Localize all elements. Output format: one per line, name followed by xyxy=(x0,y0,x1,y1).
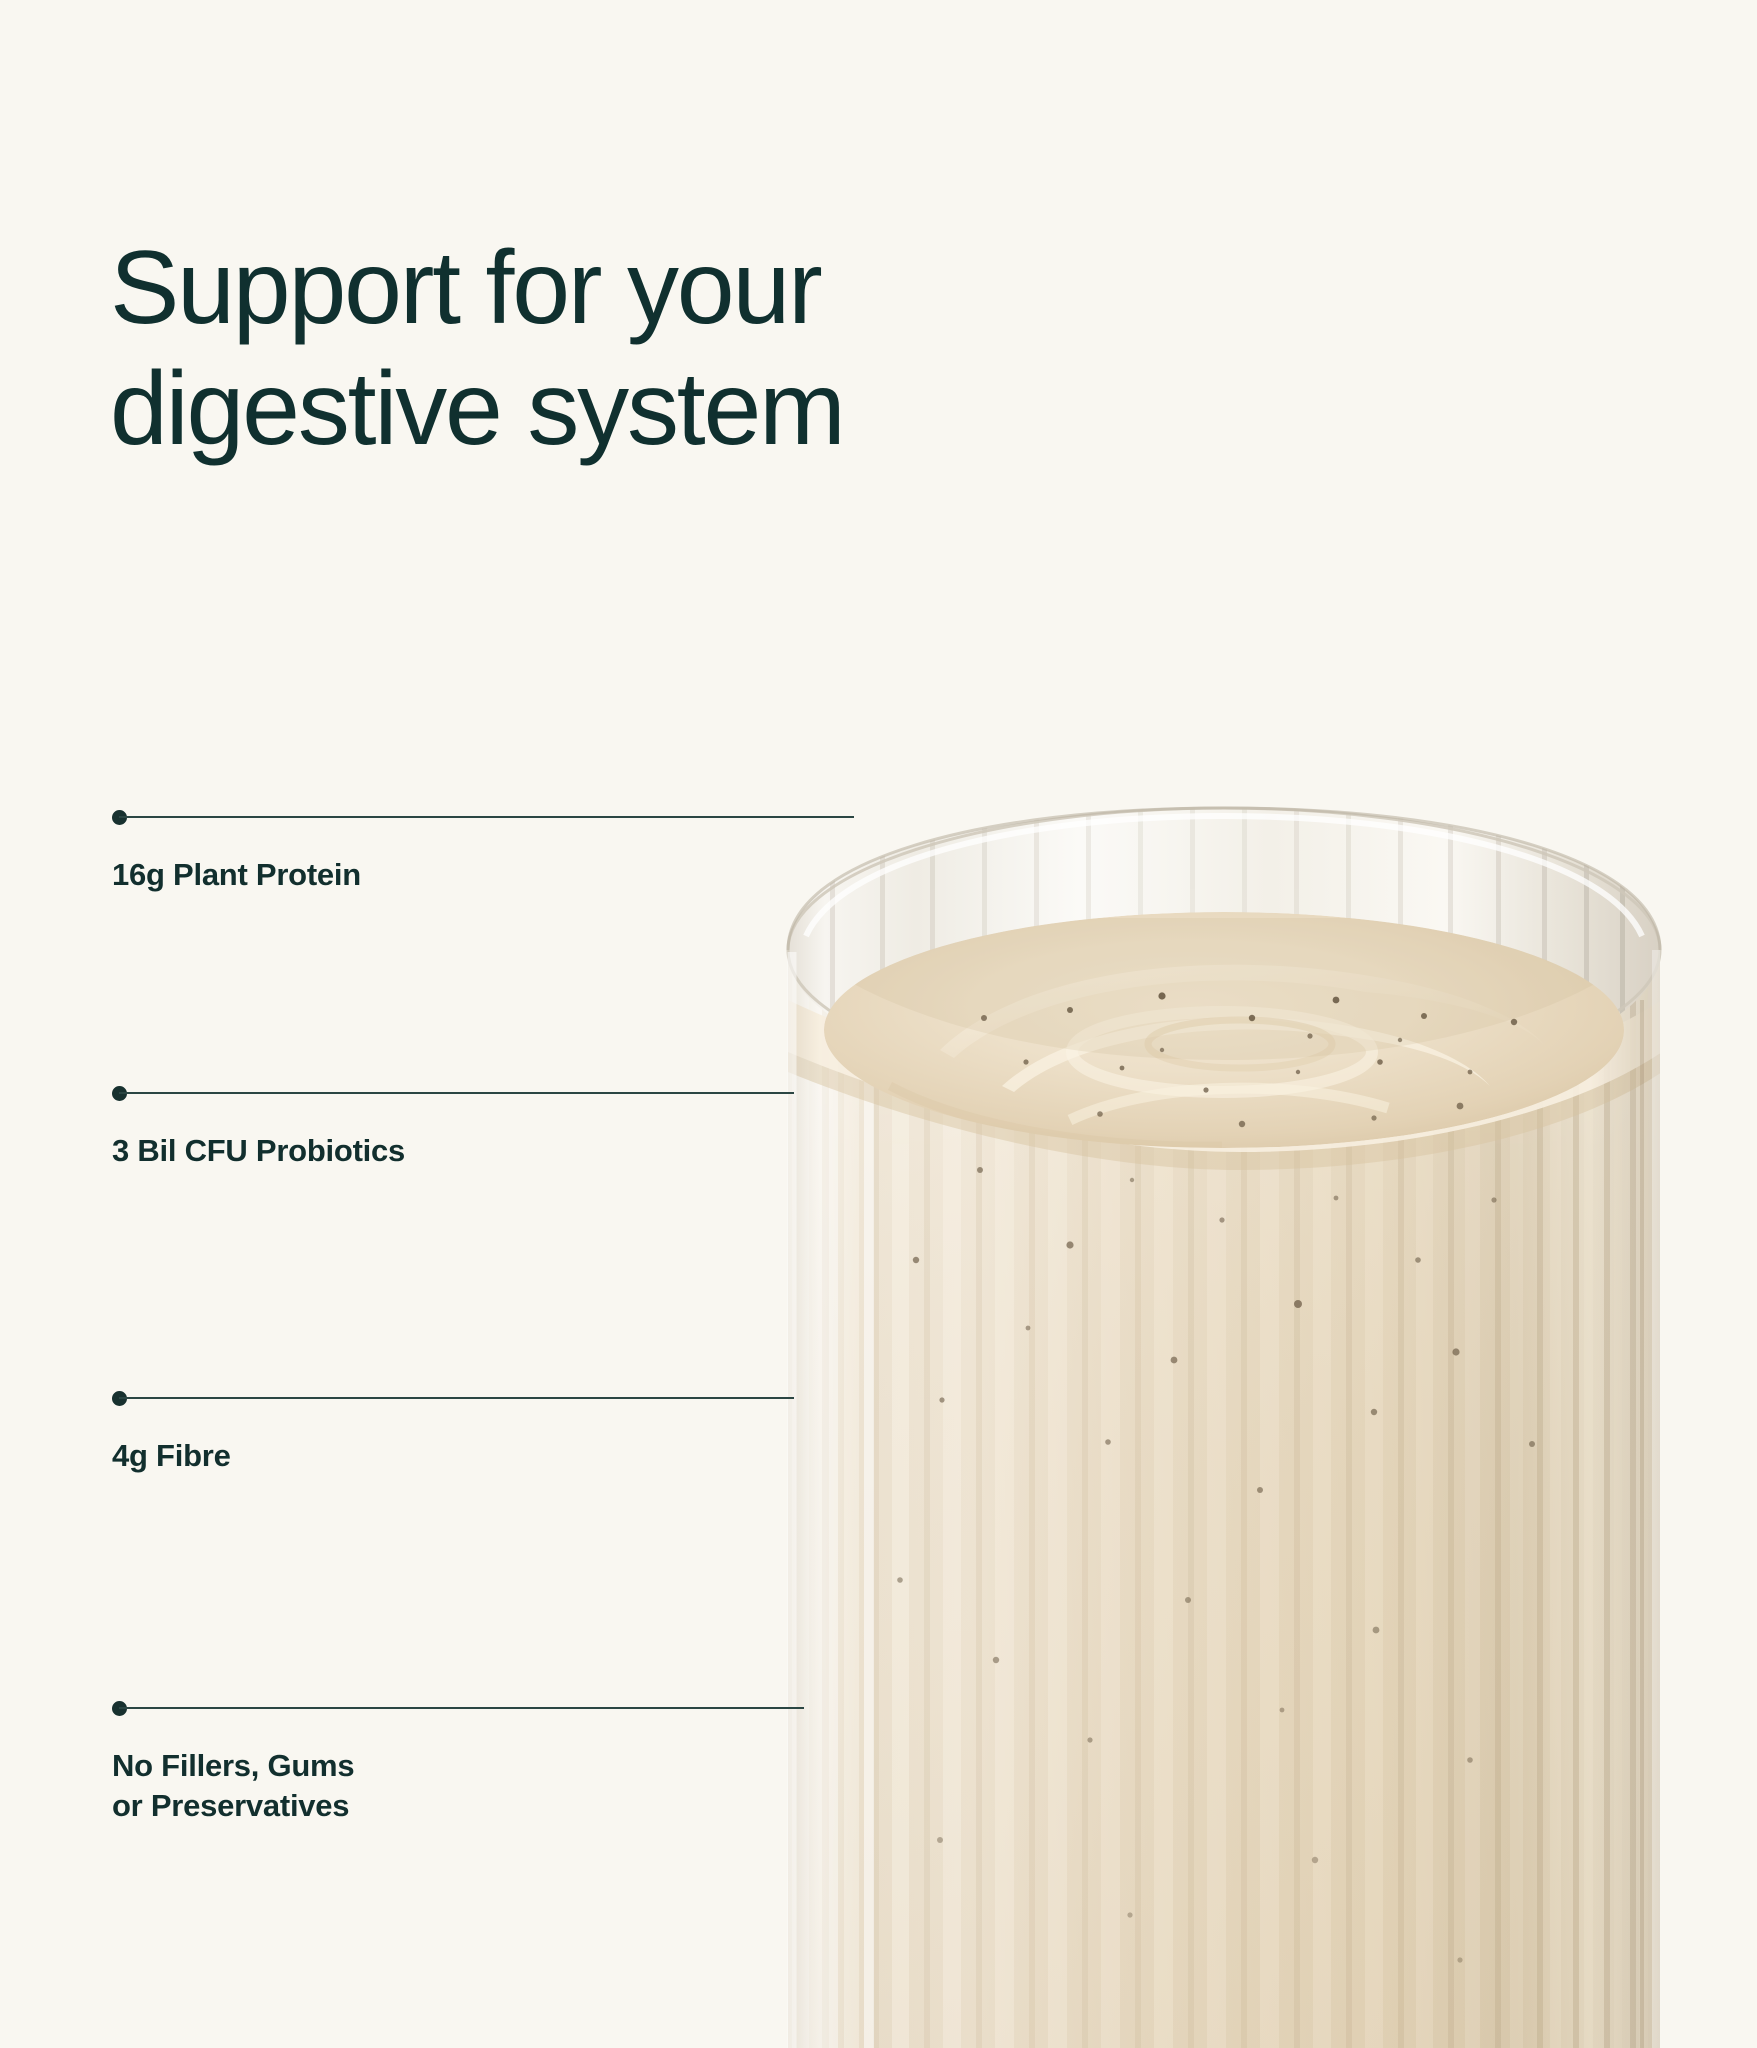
callout-item[interactable]: No Fillers, Gums or Preservatives xyxy=(112,1700,354,1825)
callout-rule xyxy=(112,1700,354,1716)
callout-label: No Fillers, Gums or Preservatives xyxy=(112,1746,354,1825)
product-image xyxy=(770,700,1680,2048)
page-title: Support for your digestive system xyxy=(110,228,1210,469)
callout-rule xyxy=(112,1085,405,1101)
leader-line xyxy=(119,1707,804,1709)
page-canvas: Support for your digestive system xyxy=(0,0,1757,2048)
leader-line xyxy=(119,1397,794,1399)
callout-item[interactable]: 3 Bil CFU Probiotics xyxy=(112,1085,405,1171)
callout-item[interactable]: 16g Plant Protein xyxy=(112,809,361,895)
callout-item[interactable]: 4g Fibre xyxy=(112,1390,231,1476)
leader-line xyxy=(119,1092,794,1094)
callout-label: 16g Plant Protein xyxy=(112,855,361,895)
callout-label: 3 Bil CFU Probiotics xyxy=(112,1131,405,1171)
callout-label: 4g Fibre xyxy=(112,1436,231,1476)
callout-rule xyxy=(112,809,361,825)
callout-rule xyxy=(112,1390,231,1406)
leader-line xyxy=(119,816,854,818)
